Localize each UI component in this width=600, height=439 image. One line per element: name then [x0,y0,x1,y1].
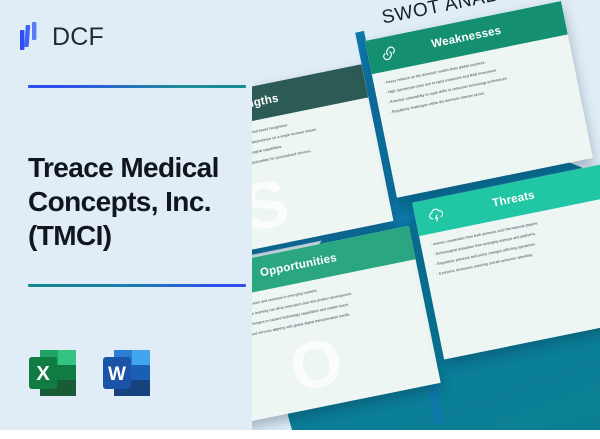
brand-name: DCF [52,25,104,50]
storm-cloud-icon [423,202,449,228]
swot-card-threats[interactable]: Threats - Intense competition from both … [412,163,600,360]
broken-link-icon [376,40,402,66]
divider-top [28,85,246,88]
excel-file-icon[interactable]: X [28,348,78,400]
swot-artwork: SWOT ANALYSIS [252,0,600,430]
bar-chart-logo-icon [20,22,44,52]
bottom-frame-edge [0,430,600,439]
page-title: Treace Medical Concepts, Inc. (TMCI) [28,151,276,253]
file-type-group: X W [28,348,152,400]
swot-grid: Strengths S - Strong foothold in the Chi… [252,0,600,430]
word-file-icon[interactable]: W [102,348,152,400]
brand-logo[interactable]: DCF [20,22,104,52]
svg-text:X: X [36,363,50,385]
poster-canvas: DCF Treace Medical Concepts, Inc. (TMCI)… [0,0,600,430]
divider-bottom [28,284,246,287]
left-info-panel: DCF Treace Medical Concepts, Inc. (TMCI)… [0,0,300,430]
swot-card-weaknesses[interactable]: Weaknesses - Heavy reliance on the domes… [365,1,593,198]
svg-text:W: W [108,364,126,385]
